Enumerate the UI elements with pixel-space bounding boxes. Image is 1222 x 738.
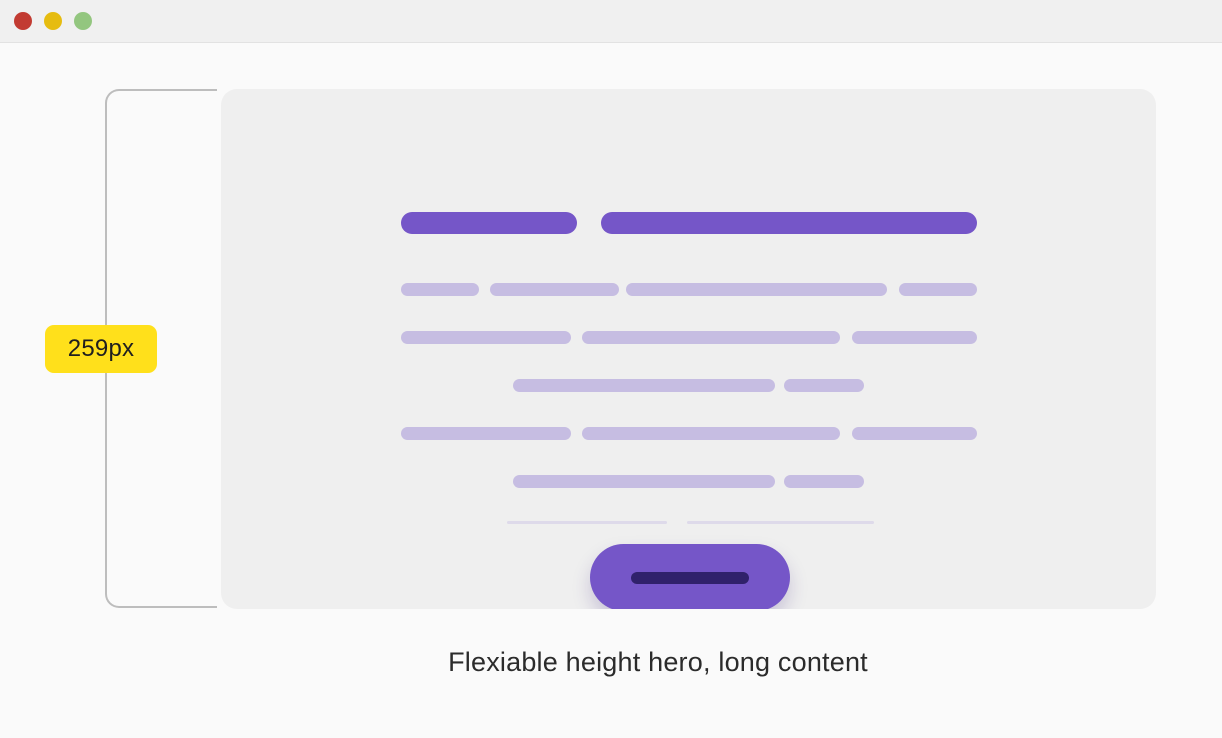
height-measurement-badge: 259px [45, 325, 157, 373]
close-window-icon[interactable] [14, 12, 32, 30]
hero-text-placeholder-bar [784, 379, 864, 392]
hero-text-placeholder-bar [626, 283, 887, 296]
hero-text-placeholder-bar [513, 379, 775, 392]
minimize-window-icon[interactable] [44, 12, 62, 30]
hero-text-placeholder-bar [401, 283, 479, 296]
hero-text-placeholder-bar [582, 331, 840, 344]
hero-cta-button[interactable] [590, 544, 790, 609]
hero-text-placeholder-bar [490, 283, 619, 296]
maximize-window-icon[interactable] [74, 12, 92, 30]
hero-text-placeholder-bar-faded [687, 521, 874, 524]
hero-text-placeholder-bar [899, 283, 977, 296]
hero-cta-label-placeholder [631, 572, 749, 584]
hero-heading-placeholder-bar [601, 212, 977, 234]
window-controls [14, 12, 92, 30]
design-canvas: 259px Flexiable height hero, long conten… [0, 44, 1222, 738]
hero-heading-placeholder-bar [401, 212, 577, 234]
hero-skeleton-content [221, 89, 1156, 609]
hero-text-placeholder-bar [784, 475, 864, 488]
hero-text-placeholder-bar [852, 331, 977, 344]
hero-text-placeholder-bar-faded [507, 521, 667, 524]
hero-text-placeholder-bar [582, 427, 840, 440]
hero-text-placeholder-bar [852, 427, 977, 440]
window-titlebar [0, 0, 1222, 43]
hero-text-placeholder-bar [513, 475, 775, 488]
hero-text-placeholder-bar [401, 331, 571, 344]
hero-card[interactable] [221, 89, 1156, 609]
hero-caption: Flexiable height hero, long content [0, 647, 1222, 678]
hero-text-placeholder-bar [401, 427, 571, 440]
